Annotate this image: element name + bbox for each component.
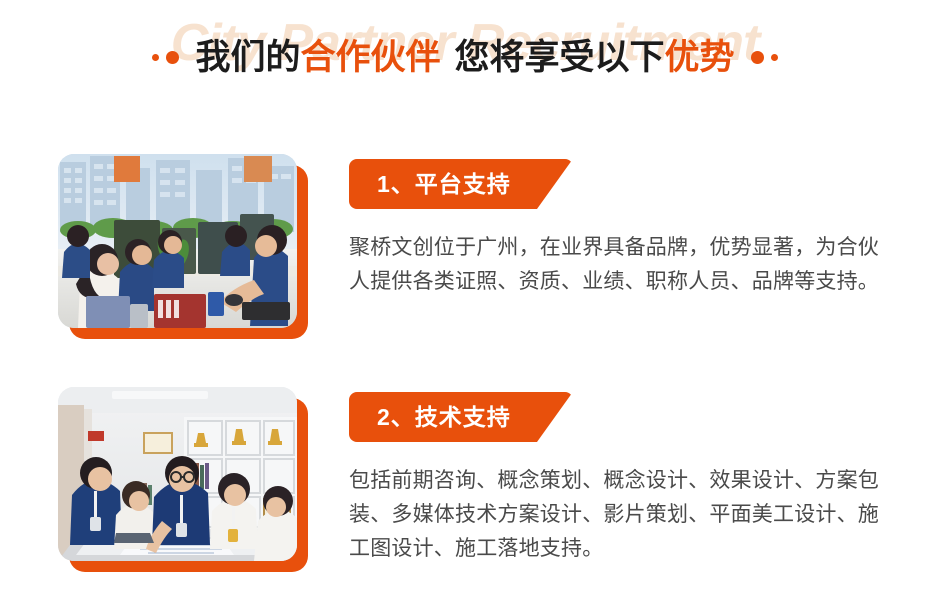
card-badge-title: 平台支持 xyxy=(415,171,511,197)
dot-large-icon xyxy=(751,51,764,64)
card-photo-frame xyxy=(58,154,308,339)
card-description: 聚桥文创位于广州，在业界具备品牌，优势显著，为合伙人提供各类证照、资质、业绩、职… xyxy=(349,231,889,299)
card-description: 包括前期咨询、概念策划、概念设计、效果设计、方案包装、多媒体技术方案设计、影片策… xyxy=(349,464,889,566)
title-row: 我们的合作伙伴您将享受以下优势 xyxy=(0,40,930,75)
benefit-card: 2、技术支持 包括前期咨询、概念策划、概念设计、效果设计、方案包装、多媒体技术方… xyxy=(0,387,930,572)
card-photo xyxy=(58,154,297,328)
card-number: 2、 xyxy=(377,404,415,430)
right-dot-group xyxy=(751,51,778,64)
benefit-card: 1、平台支持 聚桥文创位于广州，在业界具备品牌，优势显著，为合伙人提供各类证照、… xyxy=(0,154,930,339)
card-badge: 2、技术支持 xyxy=(349,392,573,442)
page-header: City Partner Recruitment 我们的合作伙伴您将享受以下优势 xyxy=(0,0,930,118)
card-photo xyxy=(58,387,297,561)
card-number: 1、 xyxy=(377,171,415,197)
title-segment-dark-2: 您将享受以下 xyxy=(455,38,665,77)
benefit-card-list: 1、平台支持 聚桥文创位于广州，在业界具备品牌，优势显著，为合伙人提供各类证照、… xyxy=(0,118,930,572)
page-title: 我们的合作伙伴您将享受以下优势 xyxy=(195,40,734,75)
card-badge: 1、平台支持 xyxy=(349,159,573,209)
card-content: 1、平台支持 聚桥文创位于广州，在业界具备品牌，优势显著，为合伙人提供各类证照、… xyxy=(308,154,930,299)
title-segment-accent-2: 优势 xyxy=(665,38,735,77)
card-photo-frame xyxy=(58,387,308,572)
card-badge-title: 技术支持 xyxy=(415,404,511,430)
dot-large-icon xyxy=(166,51,179,64)
card-content: 2、技术支持 包括前期咨询、概念策划、概念设计、效果设计、方案包装、多媒体技术方… xyxy=(308,387,930,566)
promo-page: City Partner Recruitment 我们的合作伙伴您将享受以下优势 xyxy=(0,0,930,601)
dot-small-icon xyxy=(771,54,778,61)
title-segment-accent-1: 合作伙伴 xyxy=(300,38,440,77)
left-dot-group xyxy=(152,51,179,64)
dot-small-icon xyxy=(152,54,159,61)
title-segment-dark-1: 我们的 xyxy=(195,38,300,77)
